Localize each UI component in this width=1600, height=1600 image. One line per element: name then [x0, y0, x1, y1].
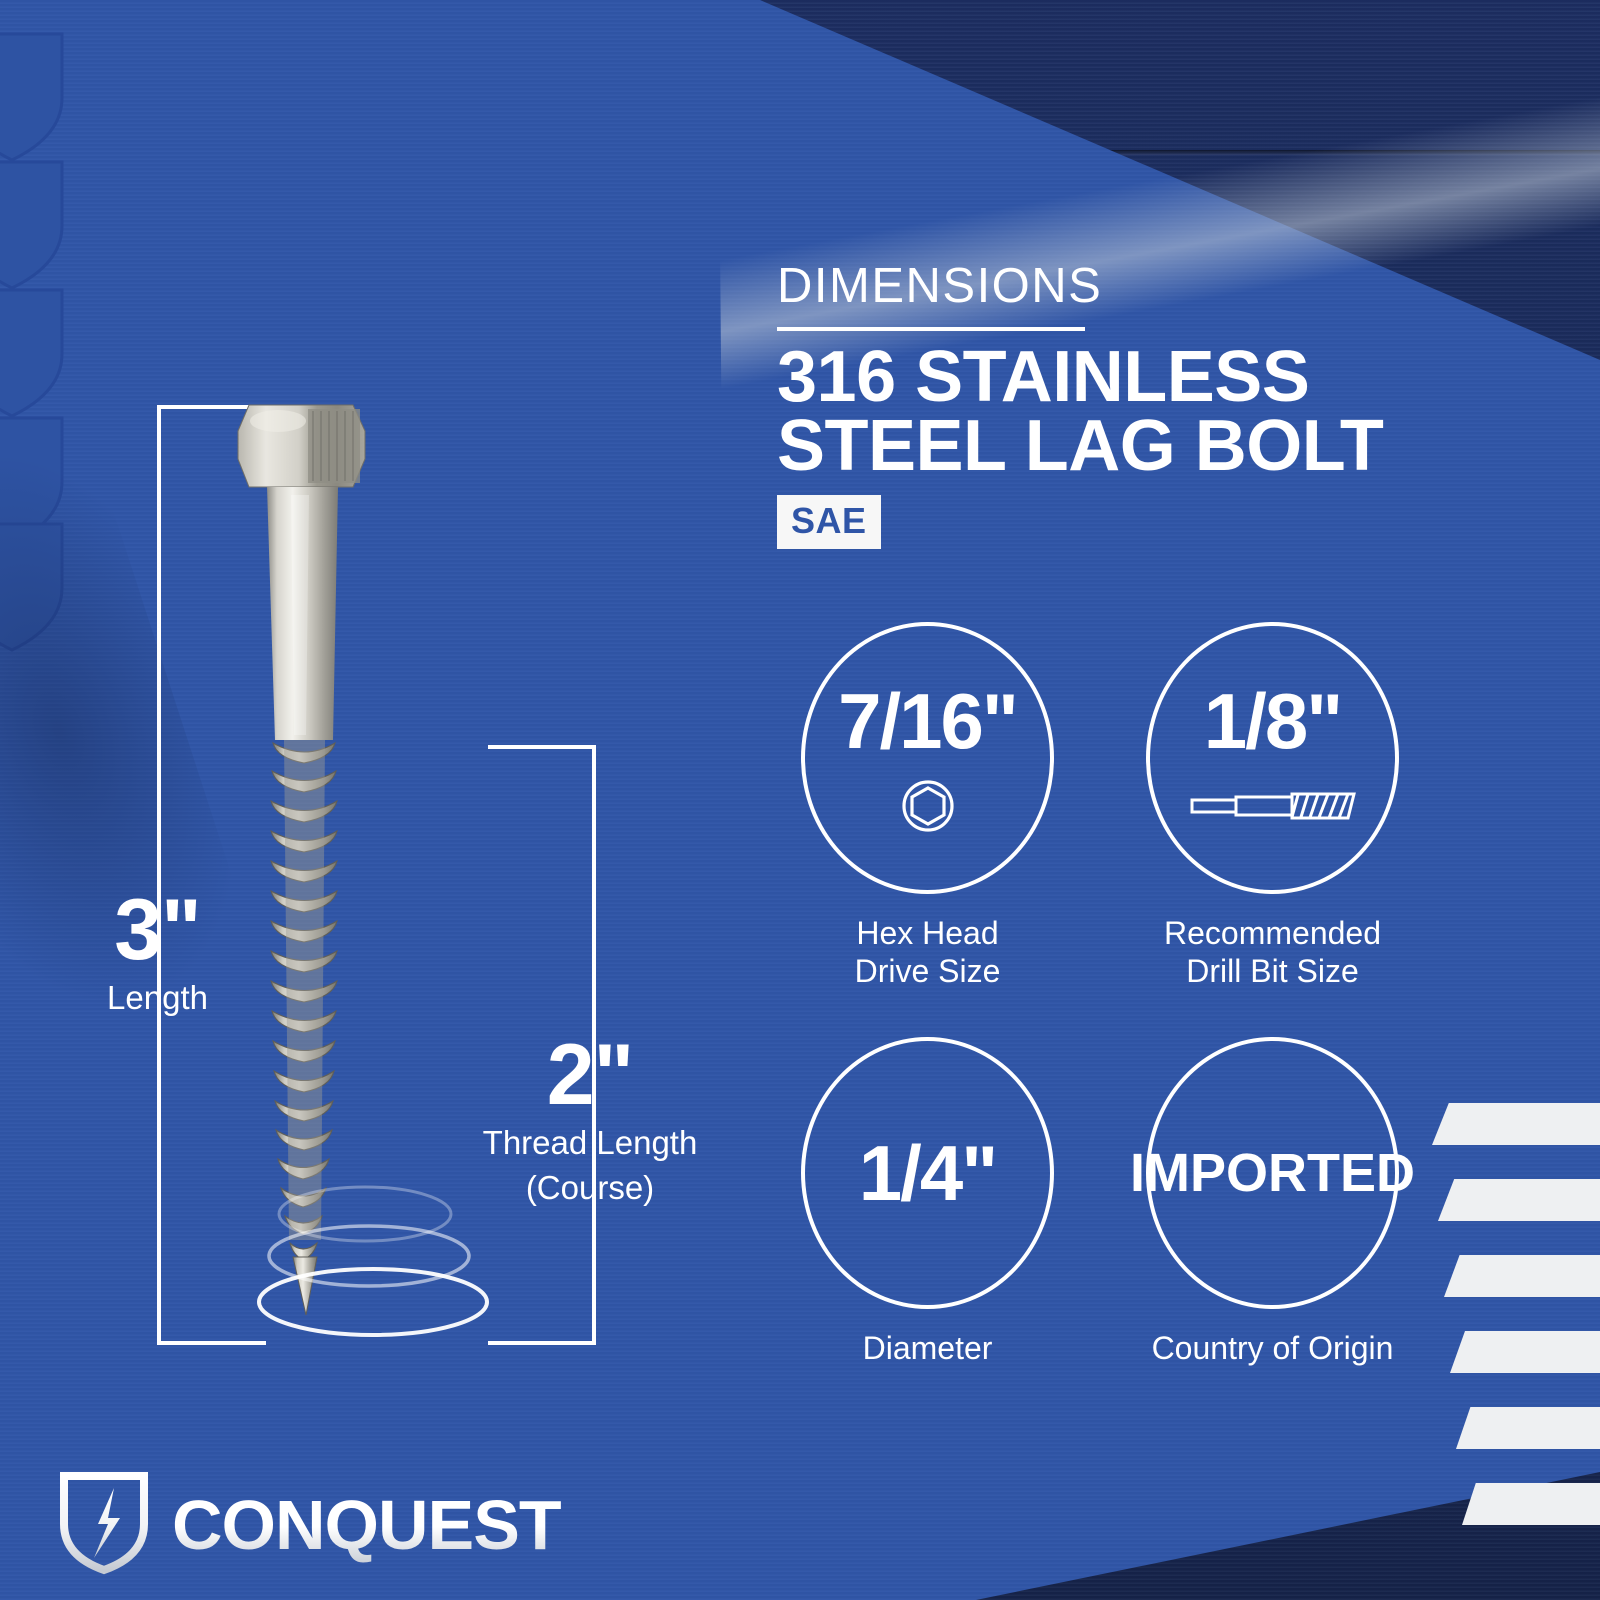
country-of-origin-circle: IMPORTED — [1146, 1037, 1399, 1309]
recommended-drill-bit-size-label-line1: Recommended — [1120, 914, 1425, 952]
hex-head-drive-size-circle: 7/16" — [801, 622, 1054, 894]
length-value: 3" — [40, 890, 275, 972]
header-block: DIMENSIONS 316 STAINLESS STEEL LAG BOLT … — [777, 262, 1417, 549]
product-title-line2: STEEL LAG BOLT — [777, 412, 1417, 481]
spec-badge-grid: 7/16" Hex Head Drive Size 1/8" — [775, 622, 1425, 1367]
diameter-circle: 1/4" — [801, 1037, 1054, 1309]
eyebrow-label: DIMENSIONS — [777, 262, 1417, 311]
spec-badge-hex-head-drive-size: 7/16" Hex Head Drive Size — [775, 622, 1080, 991]
infographic-canvas: 3" Length 2" Thread Length (Course) DIME… — [0, 0, 1600, 1600]
thread-length-caption-line2: (Course) — [430, 1170, 750, 1207]
diameter-label: Diameter — [775, 1329, 1080, 1367]
hex-head-drive-size-label-line1: Hex Head — [775, 914, 1080, 952]
drill-bit-icon — [1188, 778, 1358, 834]
thread-length-dimension-label: 2" Thread Length (Course) — [430, 1035, 750, 1207]
thread-length-caption-line1: Thread Length — [430, 1125, 750, 1162]
recommended-drill-bit-size-circle: 1/8" — [1146, 622, 1399, 894]
spec-badge-row-top: 7/16" Hex Head Drive Size 1/8" — [775, 622, 1425, 991]
recommended-drill-bit-size-label-line2: Drill Bit Size — [1120, 952, 1425, 990]
length-dimension-label: 3" Length — [40, 890, 275, 1017]
thread-length-value: 2" — [430, 1035, 750, 1117]
brand-logo: CONQUEST — [58, 1468, 561, 1581]
product-title-line1: 316 STAINLESS — [777, 343, 1417, 412]
hex-head-drive-size-value: 7/16" — [838, 682, 1017, 760]
diameter-value: 1/4" — [859, 1134, 996, 1212]
country-of-origin-label: Country of Origin — [1120, 1329, 1425, 1367]
shield-screw-icon — [58, 1468, 150, 1581]
spec-badge-recommended-drill-bit-size: 1/8" — [1120, 622, 1425, 991]
recommended-drill-bit-size-value: 1/8" — [1204, 682, 1341, 760]
length-caption: Length — [40, 980, 275, 1017]
country-of-origin-value: IMPORTED — [1130, 1146, 1415, 1200]
spec-badge-country-of-origin: IMPORTED Country of Origin — [1120, 1037, 1425, 1367]
standard-badge: SAE — [777, 495, 881, 549]
spec-badge-diameter: 1/4" Diameter — [775, 1037, 1080, 1367]
hex-head-drive-size-label-line2: Drive Size — [775, 952, 1080, 990]
spec-badge-row-bottom: 1/4" Diameter IMPORTED Country of Origin — [775, 1037, 1425, 1367]
header-divider — [777, 327, 1085, 331]
hex-socket-icon — [900, 778, 956, 834]
brand-name: CONQUEST — [172, 1485, 561, 1565]
